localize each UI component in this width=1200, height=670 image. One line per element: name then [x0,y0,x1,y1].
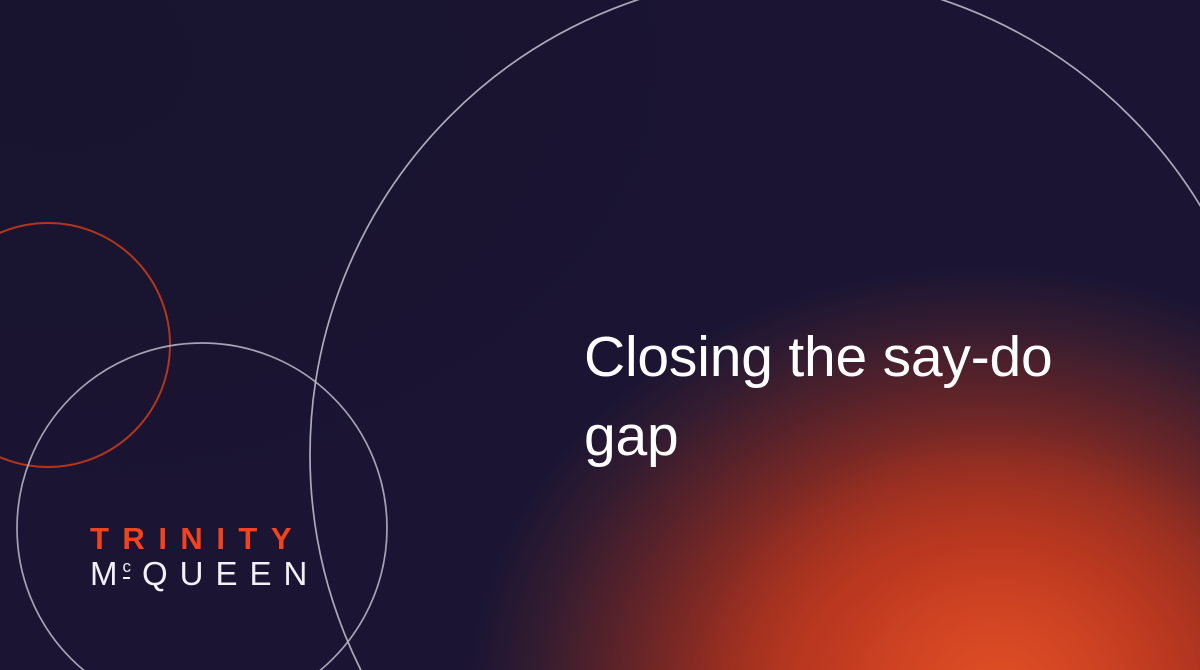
logo-wordmark-mcqueen: McQUEEN [90,556,319,592]
logo-wordmark-trinity: TRINITY [90,522,319,556]
slide-title: Closing the say-do gap [584,318,1054,476]
logo-trinity-mcqueen: TRINITY McQUEEN [90,522,319,592]
logo-superscript-c: c [123,558,132,583]
slide-canvas: Closing the say-do gap TRINITY McQUEEN [0,0,1200,670]
logo-letters-queen: QUEEN [142,556,319,592]
